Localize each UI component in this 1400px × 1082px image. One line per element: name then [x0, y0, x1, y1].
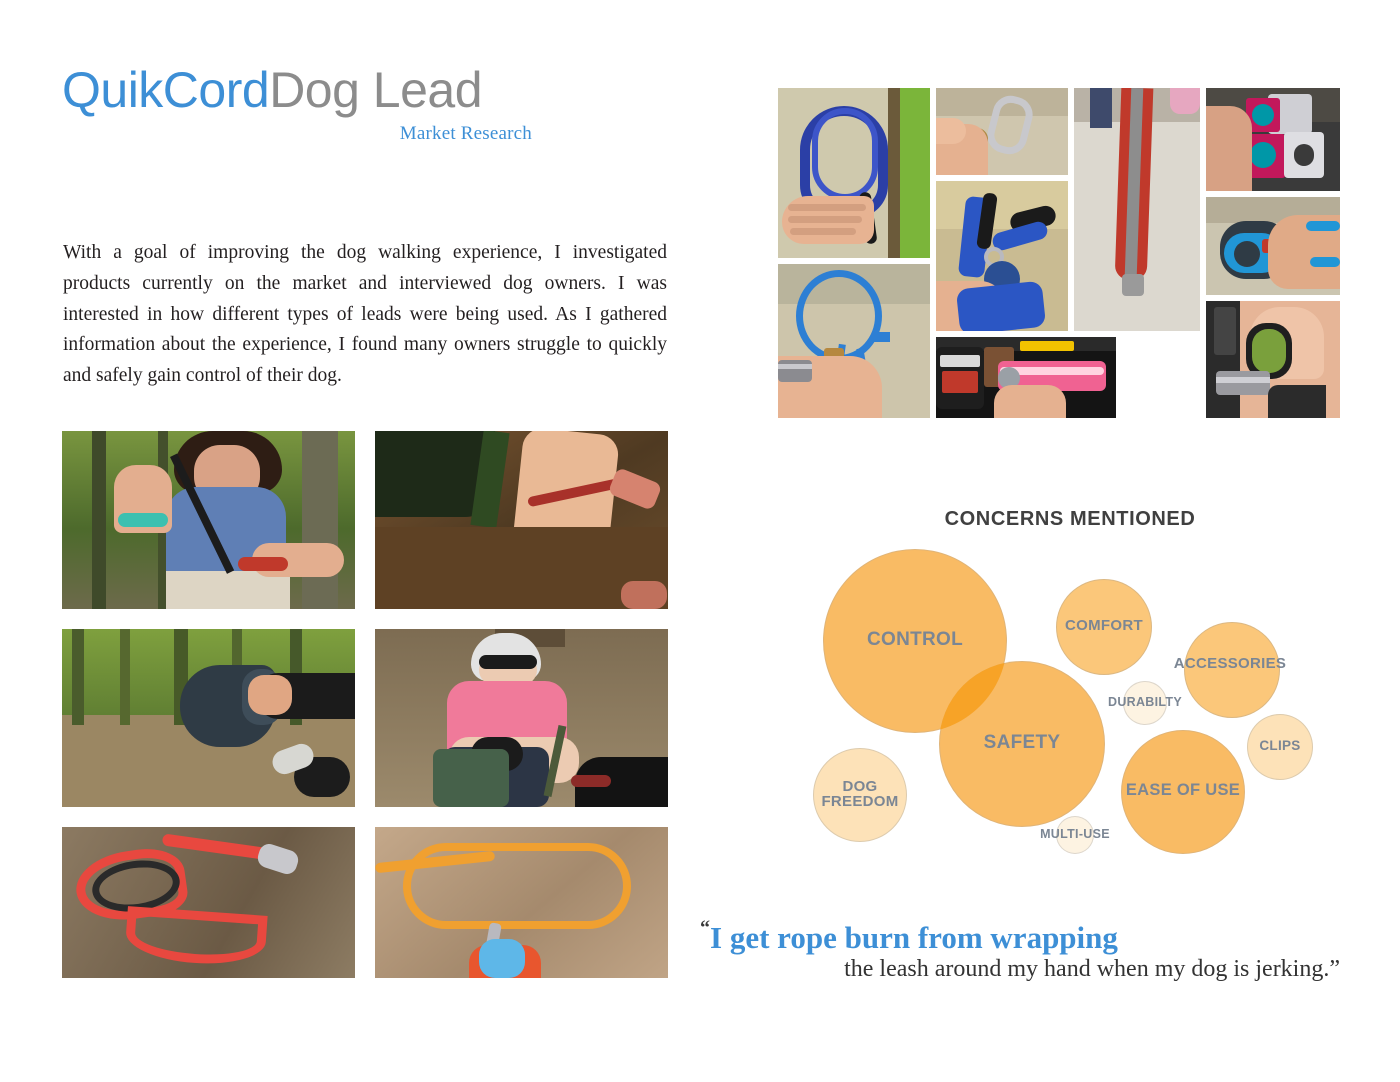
photo-metal-clip-closeup [936, 88, 1068, 175]
quote-text-1: I get rope burn from wrapping [710, 920, 1118, 955]
bubble-ease-of-use[interactable] [1121, 730, 1245, 854]
photo-nitedawg-led-leash-package [936, 337, 1116, 418]
product-research-photo-collage [778, 88, 1340, 418]
quote-line-2: the leash around my hand when my dog is … [700, 956, 1340, 984]
quote-line-1: “I get rope burn from wrapping [700, 918, 1340, 954]
bubble-accessories[interactable] [1184, 622, 1280, 718]
photo-red-reflective-lead-hanging [1074, 88, 1200, 331]
intro-paragraph: With a goal of improving the dog walking… [63, 238, 667, 392]
customer-quote: “I get rope burn from wrapping the leash… [700, 918, 1340, 984]
concerns-chart-title: CONCERNS MENTIONED [790, 508, 1350, 531]
photo-red-padded-lead-on-towel [62, 827, 355, 978]
bubble-durabilty[interactable] [1123, 681, 1167, 725]
bubble-dog-freedom[interactable] [813, 748, 907, 842]
photo-leash-wrapped-around-leg [375, 431, 668, 609]
photo-seated-woman-holding-leash [375, 629, 668, 807]
product-name: Dog Lead [269, 62, 482, 118]
bubble-multi-use[interactable] [1056, 816, 1094, 854]
photo-blue-slip-lead-loop [778, 264, 930, 418]
photo-orange-rope-lead-with-bag-holder [375, 827, 668, 978]
concerns-chart-section: CONCERNS MENTIONED CONTROLSAFETYEASE OF … [790, 500, 1350, 880]
photo-hands-free-glove-leash [1206, 301, 1340, 418]
bubble-clips[interactable] [1247, 714, 1313, 780]
bubble-comfort[interactable] [1056, 579, 1152, 675]
photo-seatbelt-buckle-collar [1206, 88, 1340, 191]
title-block: QuikCordDog Lead Market Research [62, 64, 682, 145]
field-research-photo-grid [62, 431, 668, 978]
photo-blue-retractable-leash-in-hand [1206, 197, 1340, 295]
bubble-overlap-control-safety [823, 549, 1007, 733]
quote-open-mark: “ [700, 917, 710, 939]
page-title: QuikCordDog Lead [62, 64, 682, 117]
brand-name: QuikCord [62, 62, 269, 118]
photo-blue-bungee-lead-in-hand [778, 88, 930, 258]
photo-blue-bungee-handle-tag [936, 181, 1068, 331]
photo-woman-with-shoulder-lead [62, 431, 355, 609]
photo-retractable-leash-hand [62, 629, 355, 807]
page-subtitle: Market Research [62, 123, 532, 145]
concerns-bubble-canvas: CONTROLSAFETYEASE OF USECOMFORTACCESSORI… [790, 538, 1350, 880]
